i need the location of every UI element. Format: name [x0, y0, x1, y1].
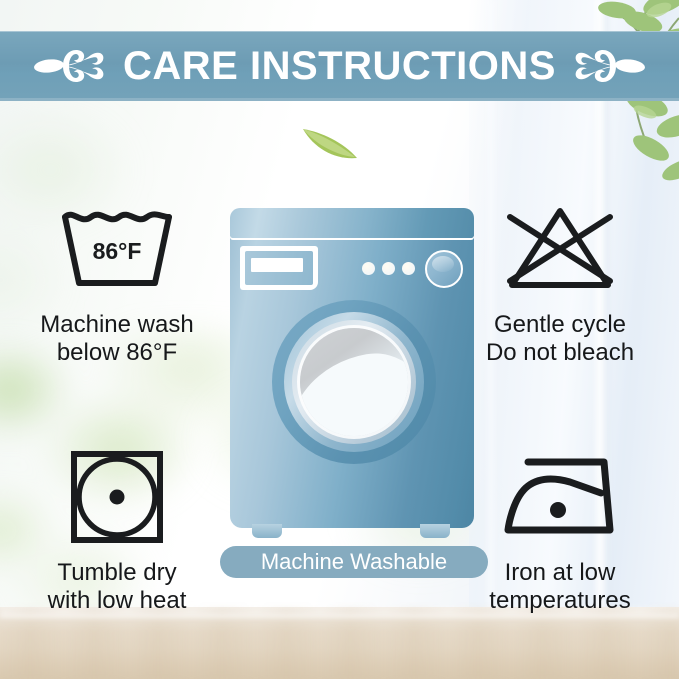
care-item-machine-wash: 86°F Machine wash below 86°F [12, 195, 222, 367]
fleur-de-lis-ornament-right-icon [572, 44, 646, 88]
care-item-tumble-dry: Tumble dry with low heat [12, 443, 222, 615]
care-instructions-infographic: CARE INSTRUCTIONS 86°F Machine wash belo… [0, 0, 679, 679]
machine-top-lid [230, 208, 474, 238]
care-item-iron: Iron at low temperatures [455, 443, 665, 615]
page-title: CARE INSTRUCTIONS [123, 46, 556, 86]
program-knob [425, 250, 463, 288]
indicator-light-2 [382, 262, 395, 275]
care-icon-container [498, 195, 622, 303]
door-glass-highlight [300, 344, 408, 436]
indicator-light-3 [402, 262, 415, 275]
care-label-do-not-bleach: Gentle cycle Do not bleach [486, 311, 634, 367]
wash-tub-icon: 86°F [53, 201, 181, 297]
machine-foot-right [420, 524, 450, 538]
detergent-drawer-slot [251, 258, 303, 272]
care-label-iron: Iron at low temperatures [489, 559, 630, 615]
fleur-de-lis-ornament-left-icon [33, 44, 107, 88]
care-label-machine-wash: Machine wash below 86°F [40, 311, 193, 367]
floating-leaf-icon [299, 122, 361, 164]
door-glass [300, 328, 408, 436]
banner: CARE INSTRUCTIONS [0, 31, 679, 101]
status-badge-label: Machine Washable [261, 551, 447, 573]
washing-machine-illustration [222, 208, 482, 538]
iron-low-temperature-icon [498, 452, 622, 542]
care-icon-container [67, 443, 167, 551]
wash-temperature-value: 86°F [93, 238, 142, 264]
machine-foot-left [252, 524, 282, 538]
do-not-bleach-triangle-icon [498, 201, 622, 297]
care-label-tumble-dry: Tumble dry with low heat [48, 559, 187, 615]
care-icon-container: 86°F [53, 195, 181, 303]
status-badge: Machine Washable [220, 546, 488, 578]
care-item-do-not-bleach: Gentle cycle Do not bleach [455, 195, 665, 367]
wooden-table-edge-highlight [0, 614, 679, 623]
indicator-light-1 [362, 262, 375, 275]
tumble-dry-low-icon [67, 447, 167, 547]
care-icon-container [498, 443, 622, 551]
